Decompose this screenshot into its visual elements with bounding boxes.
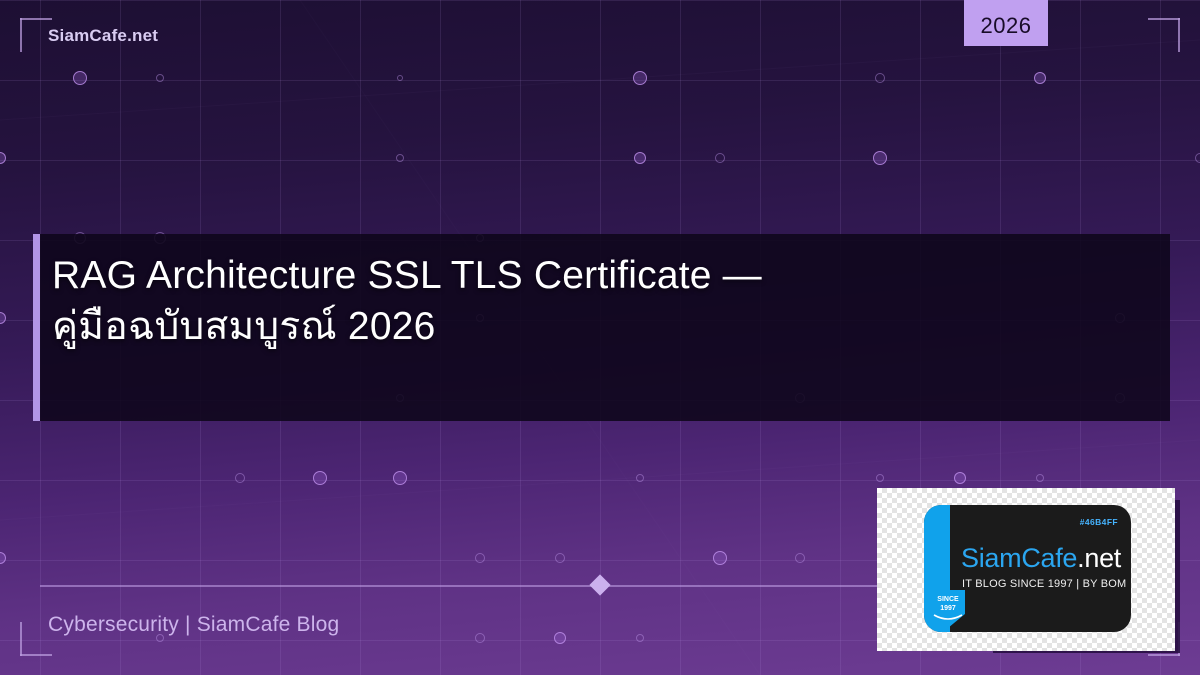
divider-diamond-icon [589,574,610,595]
background-node-dot [313,471,327,485]
logo-card: #46B4FF SiamCafe.net IT BLOG SINCE 1997 … [877,488,1175,651]
since-shield-line1: SINCE [931,596,965,605]
since-shield-line2: 1997 [931,605,965,614]
background-node-dot [1034,72,1046,84]
background-node-dot [475,633,485,643]
background-node-dot [73,71,87,85]
page-title: RAG Architecture SSL TLS Certificate — ค… [52,250,1152,352]
background-node-dot [156,74,164,82]
logo-wordmark: SiamCafe.net [961,543,1121,574]
background-node-dot [0,552,6,564]
category-label: Cybersecurity | SiamCafe Blog [48,613,339,637]
background-node-dot [875,73,885,83]
background-node-dot [555,553,565,563]
corner-bracket-top-right [1148,18,1180,52]
background-node-dot [873,151,887,165]
background-node-dot [235,473,245,483]
since-shield-text: SINCE 1997 [931,596,965,613]
background-node-dot [636,634,644,642]
logo-wordmark-secondary: .net [1077,543,1121,573]
year-badge-label: 2026 [981,1,1032,39]
poster-canvas: SiamCafe.net 2026 RAG Architecture SSL T… [0,0,1200,675]
background-node-dot [396,154,404,162]
background-node-dot [0,152,6,164]
site-name-label: SiamCafe.net [48,26,158,46]
background-node-dot [397,75,403,81]
background-node-dot [475,553,485,563]
background-node-dot [1195,153,1200,163]
background-node-dot [634,152,646,164]
background-node-dot [795,553,805,563]
logo-hex-label: #46B4FF [1080,517,1118,527]
year-badge: 2026 [964,0,1048,46]
background-node-dot [713,551,727,565]
title-accent-bar [33,234,40,421]
background-node-dot [876,474,884,482]
background-node-dot [0,312,6,324]
background-node-dot [954,472,966,484]
background-node-dot [554,632,566,644]
background-node-dot [393,471,407,485]
background-node-dot [633,71,647,85]
since-shield-badge: SINCE 1997 [931,590,965,628]
logo-wordmark-primary: SiamCafe [961,543,1077,573]
background-node-dot [715,153,725,163]
logo-tagline: IT BLOG SINCE 1997 | BY BOM [962,578,1126,590]
background-node-dot [1036,474,1044,482]
logo-inner-panel: #46B4FF SiamCafe.net IT BLOG SINCE 1997 … [924,505,1131,632]
background-node-dot [636,474,644,482]
